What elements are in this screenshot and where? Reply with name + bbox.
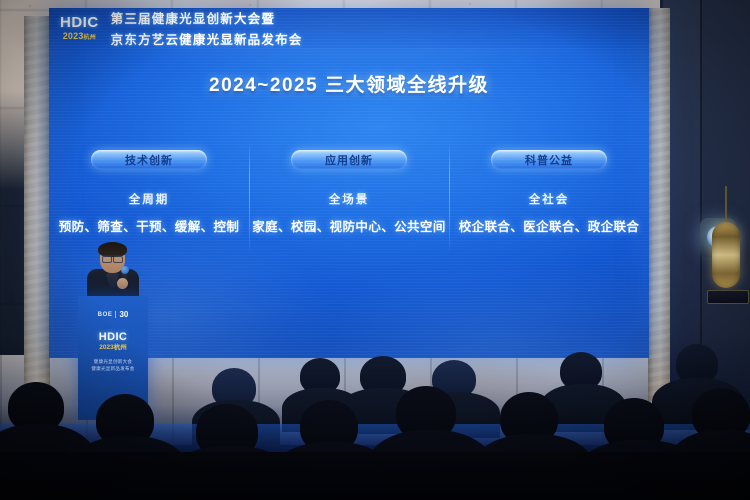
podium-logo-mark: HDIC	[99, 332, 128, 343]
column-items-application: 家庭、校园、视防中心、公共空间	[252, 216, 446, 235]
wall-plaque	[707, 290, 749, 304]
column-subtitle-public-welfare: 全社会	[529, 191, 570, 207]
podium-brand: BOE	[98, 312, 113, 318]
slide-column-public-welfare: 科普公益 全社会 校企联合、医企联合、政企联合	[449, 148, 649, 258]
column-items-public-welfare: 校企联合、医企联合、政企联合	[459, 216, 640, 235]
column-pill-public-welfare: 科普公益	[491, 150, 607, 169]
hdic-logo-mark: HDIC	[60, 15, 99, 30]
column-items-technology: 预防、筛查、干预、缓解、控制	[59, 216, 240, 235]
slide-header-bar: HDIC 2023杭州 第三届健康光显创新大会暨 京东方艺云健康光显新品发布会	[49, 8, 649, 48]
foreground-shadow	[0, 452, 750, 500]
slide-column-technology: 技术创新 全周期 预防、筛查、干预、缓解、控制	[49, 148, 249, 258]
sconce-rod	[725, 186, 727, 226]
hdic-logo: HDIC 2023杭州	[60, 15, 99, 41]
glasses-icon	[102, 255, 123, 261]
podium-boe-logo: BOE 30	[98, 310, 129, 319]
podium-subtitle: 健康光显创新大会 健康光显新品发布会	[91, 358, 134, 372]
podium-subtitle-line1: 健康光显创新大会	[91, 358, 134, 365]
stone-pillar-right	[648, 8, 670, 428]
slide-column-application: 应用创新 全场景 家庭、校园、视防中心、公共空间	[249, 148, 449, 258]
wall-sconce-icon	[712, 222, 740, 288]
header-title-line1: 第三届健康光显创新大会暨	[111, 8, 303, 27]
speaker-hand	[117, 278, 128, 289]
podium-anniversary: 30	[119, 310, 128, 319]
hdic-logo-year: 2023杭州	[63, 32, 96, 41]
column-subtitle-application: 全场景	[329, 191, 370, 207]
slide-columns: 技术创新 全周期 预防、筛查、干预、缓解、控制 应用创新 全场景 家庭、校园、视…	[49, 148, 649, 258]
conference-photo-scene: HDIC 2023杭州 第三届健康光显创新大会暨 京东方艺云健康光显新品发布会 …	[0, 0, 750, 500]
microphone-head-icon	[121, 266, 129, 274]
header-title-block: 第三届健康光显创新大会暨 京东方艺云健康光显新品发布会	[111, 8, 303, 48]
column-subtitle-technology: 全周期	[129, 191, 170, 207]
column-pill-application: 应用创新	[291, 150, 407, 169]
podium-subtitle-line2: 健康光显新品发布会	[91, 365, 134, 372]
podium-logo-divider	[115, 311, 116, 318]
column-pill-technology: 技术创新	[91, 150, 207, 169]
podium-hdic-logo: HDIC 2023杭州	[99, 332, 128, 352]
podium-logo-year: 2023杭州	[99, 345, 128, 352]
slide-main-title: 2024~2025 三大领域全线升级	[49, 70, 649, 97]
header-title-line2: 京东方艺云健康光显新品发布会	[111, 29, 303, 48]
